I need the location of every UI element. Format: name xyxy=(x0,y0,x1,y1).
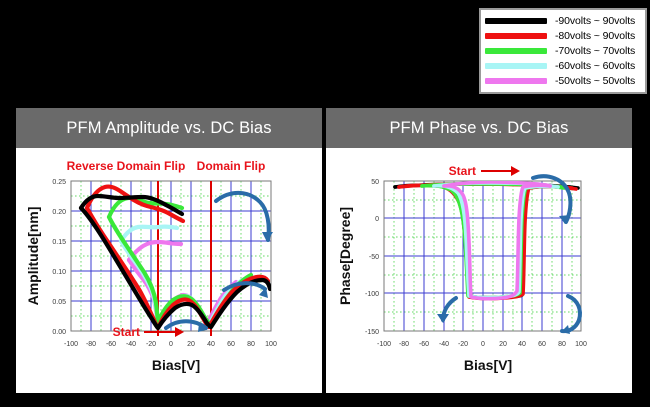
legend-label: -60volts ~ 60volts xyxy=(555,60,635,72)
svg-text:0.15: 0.15 xyxy=(52,239,66,246)
svg-text:-100: -100 xyxy=(365,291,379,298)
domain-flip-label: Domain Flip xyxy=(197,159,266,173)
svg-text:-80: -80 xyxy=(86,341,96,348)
svg-text:-40: -40 xyxy=(126,341,136,348)
legend-item: -60volts ~ 60volts xyxy=(485,59,639,74)
svg-text:-100: -100 xyxy=(64,341,78,348)
svg-text:0: 0 xyxy=(481,341,485,348)
legend-swatch-cyan xyxy=(485,63,547,69)
svg-text:100: 100 xyxy=(265,341,277,348)
start-label: Start xyxy=(449,164,476,178)
svg-text:60: 60 xyxy=(227,341,235,348)
svg-text:-20: -20 xyxy=(458,341,468,348)
panel-title-amplitude: PFM Amplitude vs. DC Bias xyxy=(16,108,322,148)
panel-amplitude: PFM Amplitude vs. DC Bias xyxy=(16,108,322,393)
svg-text:0.05: 0.05 xyxy=(52,299,66,306)
svg-text:0.20: 0.20 xyxy=(52,209,66,216)
reverse-domain-flip-label: Reverse Domain Flip xyxy=(67,159,186,173)
legend-swatch-red xyxy=(485,33,547,39)
svg-text:40: 40 xyxy=(207,341,215,348)
legend-label: -80volts ~ 90volts xyxy=(555,30,635,42)
svg-text:-20: -20 xyxy=(146,341,156,348)
svg-text:40: 40 xyxy=(518,341,526,348)
legend-swatch-green xyxy=(485,48,547,54)
svg-text:0.00: 0.00 xyxy=(52,329,66,336)
svg-text:80: 80 xyxy=(558,341,566,348)
panel-phase: PFM Phase vs. DC Bias xyxy=(326,108,632,393)
panel-container: PFM Amplitude vs. DC Bias xyxy=(16,108,635,393)
svg-text:-60: -60 xyxy=(106,341,116,348)
svg-text:0: 0 xyxy=(169,341,173,348)
svg-text:0: 0 xyxy=(375,216,379,223)
x-axis-title: Bias[V] xyxy=(152,357,200,373)
svg-text:60: 60 xyxy=(538,341,546,348)
svg-text:-60: -60 xyxy=(419,341,429,348)
chart-amplitude: 0.25 0.20 0.15 0.10 0.05 0.00 -100 -80 -… xyxy=(16,148,322,393)
legend-label: -70volts ~ 70volts xyxy=(555,45,635,57)
svg-text:-40: -40 xyxy=(439,341,449,348)
svg-text:-150: -150 xyxy=(365,329,379,336)
svg-text:50: 50 xyxy=(371,179,379,186)
legend-label: -50volts ~ 50volts xyxy=(555,75,635,87)
panel-title-phase: PFM Phase vs. DC Bias xyxy=(326,108,632,148)
y-axis-title: Phase[Degree] xyxy=(337,207,353,305)
svg-text:20: 20 xyxy=(499,341,507,348)
svg-text:0.25: 0.25 xyxy=(52,179,66,186)
legend-swatch-black xyxy=(485,18,547,24)
x-axis-title: Bias[V] xyxy=(464,357,512,373)
legend-item: -90volts ~ 90volts xyxy=(485,14,639,29)
svg-text:-80: -80 xyxy=(399,341,409,348)
svg-text:-50: -50 xyxy=(369,254,379,261)
y-axis-title: Amplitude[nm] xyxy=(25,207,41,306)
amplitude-plot-svg: 0.25 0.20 0.15 0.10 0.05 0.00 -100 -80 -… xyxy=(16,148,322,393)
chart-phase: 50 0 -50 -100 -150 -100 -80 -60 -40 -20 … xyxy=(326,148,632,393)
legend-item: -80volts ~ 90volts xyxy=(485,29,639,44)
legend-swatch-magenta xyxy=(485,78,547,84)
svg-text:20: 20 xyxy=(187,341,195,348)
series-legend: -90volts ~ 90volts -80volts ~ 90volts -7… xyxy=(479,8,647,94)
legend-item: -70volts ~ 70volts xyxy=(485,44,639,59)
svg-text:-100: -100 xyxy=(377,341,391,348)
svg-text:80: 80 xyxy=(247,341,255,348)
phase-plot-svg: 50 0 -50 -100 -150 -100 -80 -60 -40 -20 … xyxy=(326,148,632,393)
start-label: Start xyxy=(113,325,140,339)
legend-label: -90volts ~ 90volts xyxy=(555,15,635,27)
legend-item: -50volts ~ 50volts xyxy=(485,74,639,89)
svg-text:100: 100 xyxy=(575,341,587,348)
svg-text:0.10: 0.10 xyxy=(52,269,66,276)
